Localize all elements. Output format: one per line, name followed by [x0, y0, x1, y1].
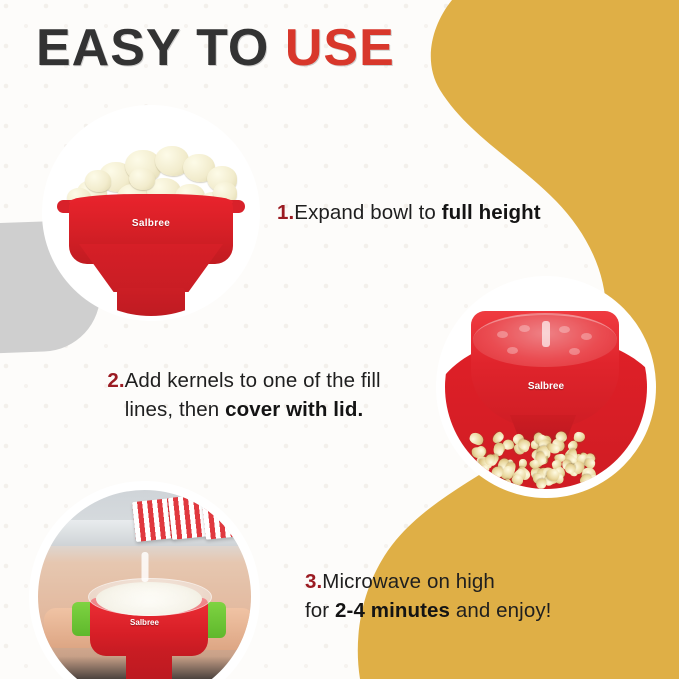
step-1-regular: Expand bowl to: [294, 201, 441, 224]
brand-logo-label: Salbree: [445, 381, 647, 392]
corn-kernels-pile: [467, 425, 601, 489]
photo-1-content: Salbree: [47, 110, 255, 316]
popcorn-puff: [129, 168, 155, 190]
step-3-number: 3.: [305, 570, 322, 593]
step-1-text: 1.Expand bowl to full height: [277, 198, 541, 227]
brand-logo-label: Salbree: [38, 618, 251, 627]
brand-logo-label: Salbree: [47, 218, 255, 229]
bowl-lid: [88, 578, 212, 616]
infographic-canvas: EASY TO USE Salbree: [0, 0, 679, 679]
lid-dimple: [497, 331, 508, 338]
step-2-number: 2.: [107, 369, 124, 392]
photo-microwave-removal: Salbree: [38, 490, 251, 679]
step-2-line2-bold: cover with lid.: [225, 398, 363, 421]
photo-2-content: Salbree: [445, 285, 647, 489]
step-3-line2-prefix: for: [305, 599, 335, 622]
popcorn-puff: [85, 170, 111, 192]
title-text-dark: EASY TO: [36, 19, 269, 77]
step-3-line2-tail: and enjoy!: [450, 599, 551, 622]
corn-kernel: [468, 431, 485, 446]
corn-kernel: [478, 464, 490, 475]
lid-dimple: [519, 325, 530, 332]
photo-3-content: Salbree: [38, 490, 251, 679]
photo-bowl-expanded: Salbree: [47, 110, 255, 316]
lid-dimple: [507, 347, 518, 354]
title-text-accent: USE: [285, 19, 395, 77]
step-3-line1: Microwave on high: [322, 570, 495, 593]
page-title: EASY TO USE: [36, 22, 395, 74]
step-3-line2-bold: 2-4 minutes: [335, 599, 450, 622]
lid-handle-knob: [542, 321, 550, 347]
step-3-text: 3.Microwave on highfor 2-4 minutes and e…: [305, 567, 645, 625]
lid-handle-knob: [141, 552, 148, 582]
lid-dimple: [559, 326, 570, 333]
step-2-line2-regular: lines, then: [125, 398, 225, 421]
bowl-foot: [126, 650, 172, 679]
lid-dimple: [569, 348, 580, 355]
lid-dimple: [581, 333, 592, 340]
photo-bowl-with-lid-and-kernels: Salbree: [445, 285, 647, 489]
step-1-bold: full height: [442, 201, 541, 224]
corn-kernel: [492, 467, 503, 478]
step-1-number: 1.: [277, 201, 294, 224]
popcorn-bag-icon: [202, 500, 240, 539]
corn-kernel: [536, 479, 547, 489]
step-2-line1: Add kernels to one of the fill: [125, 369, 381, 392]
bowl-base-stem: [117, 288, 185, 316]
step-2-text: 2.Add kernels to one of the filllines, t…: [64, 366, 424, 424]
